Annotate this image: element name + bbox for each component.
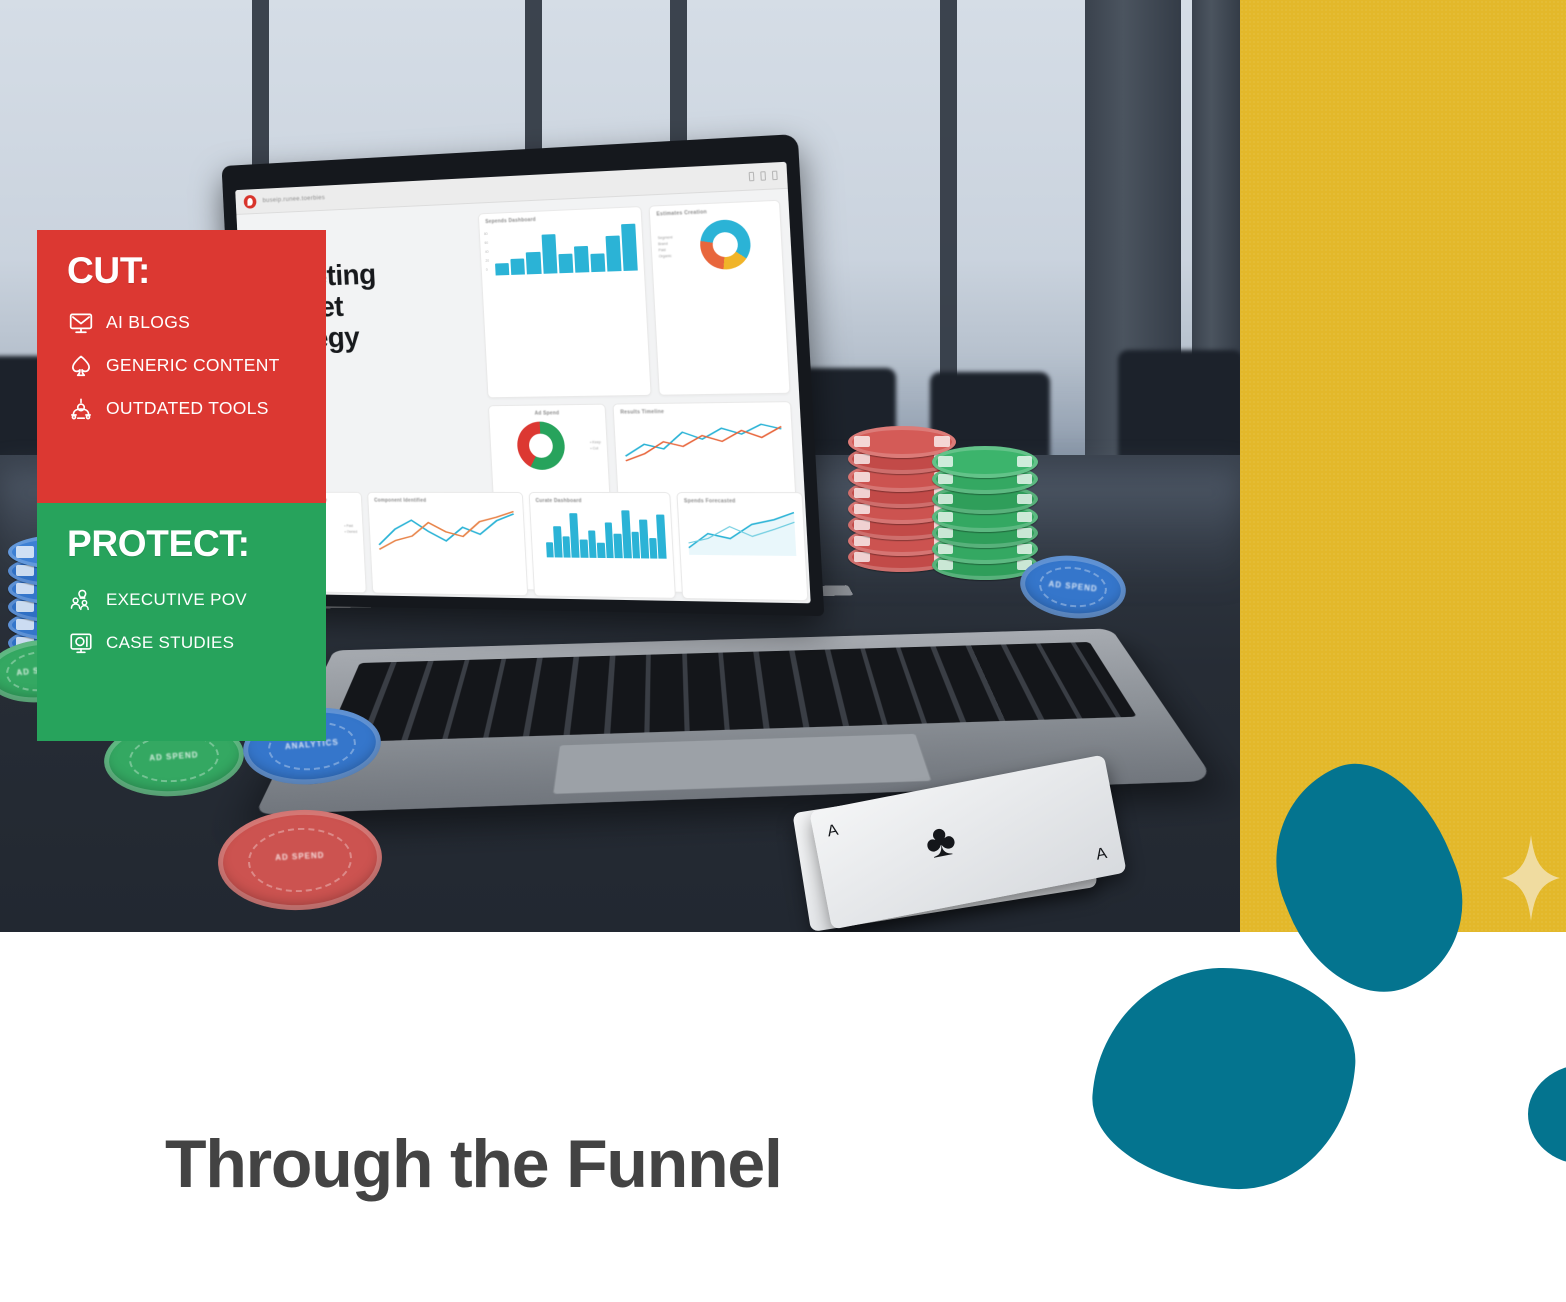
callout-protect-heading: PROTECT: xyxy=(67,525,306,562)
person-lightbulb-icon xyxy=(67,586,94,613)
dashboard-card[interactable]: Sepends Dashboard 806040200 xyxy=(478,206,652,398)
dashboard-card[interactable]: Estimates Creation SegmentBrandPaidOrgan… xyxy=(649,200,791,396)
line-chart xyxy=(621,416,787,465)
dashboard-card[interactable]: Spends Forecasted xyxy=(676,492,808,601)
club-corner-icon: A xyxy=(1095,846,1109,864)
callout-cut-items: AI BLOGS GENERIC CONTENT xyxy=(67,309,306,422)
card-title: Ad Spend xyxy=(495,409,599,416)
poster-canvas: buseip.runee.toerbies 2026 Marketing Bud… xyxy=(0,0,1566,1302)
cut-item-label: AI BLOGS xyxy=(106,312,190,333)
protect-item-case-studies[interactable]: CASE STUDIES xyxy=(67,629,306,656)
donut-chart xyxy=(699,219,752,271)
window-controls[interactable] xyxy=(749,171,778,182)
chart-legend: SegmentBrandPaidOrganic xyxy=(658,235,674,258)
chart-legend: • Paid• Owned xyxy=(344,524,357,534)
spade-icon xyxy=(67,352,94,379)
monitor-envelope-icon xyxy=(67,309,94,336)
dashboard-card[interactable]: Curate Dashboard xyxy=(528,492,676,599)
outdated-tools-icon xyxy=(67,395,94,422)
donut-chart xyxy=(516,421,566,470)
bar-chart xyxy=(486,222,638,276)
sparkle-star-icon xyxy=(1500,833,1562,923)
card-title: Spends Forecasted xyxy=(684,498,796,504)
line-chart xyxy=(374,507,518,553)
card-title: Results Timeline xyxy=(620,407,784,415)
cut-item-outdated-tools[interactable]: OUTDATED TOOLS xyxy=(67,395,306,422)
browser-url[interactable]: buseip.runee.toerbies xyxy=(262,194,325,204)
presentation-screen-icon xyxy=(67,629,94,656)
cut-item-generic-content[interactable]: GENERIC CONTENT xyxy=(67,352,306,379)
card-title: Component Identified xyxy=(374,498,516,504)
protect-item-label: EXECUTIVE POV xyxy=(106,590,247,610)
callout-cut[interactable]: CUT: AI BLOGS xyxy=(37,230,326,503)
dashboard-bottom-row: Ads Performance • Paid• Owned Component … xyxy=(252,492,808,601)
browser-logo-icon xyxy=(243,194,256,208)
protect-item-label: CASE STUDIES xyxy=(106,633,234,653)
cut-item-ai-blogs[interactable]: AI BLOGS xyxy=(67,309,306,336)
area-chart xyxy=(684,507,798,556)
chart-legend: • Keep• Cut xyxy=(590,440,601,450)
page-title: Through the Funnel xyxy=(165,1130,782,1198)
callout-protect-items: EXECUTIVE POV CASE STUDIES xyxy=(67,586,306,656)
club-suit-icon: ♣ xyxy=(921,815,959,866)
cut-item-label: OUTDATED TOOLS xyxy=(106,398,269,419)
chip-stack-green-right xyxy=(932,444,1038,584)
laptop-keyboard[interactable] xyxy=(326,642,1137,742)
callout-cut-heading: CUT: xyxy=(67,252,306,289)
cut-item-label: GENERIC CONTENT xyxy=(106,355,280,376)
club-corner-icon: A xyxy=(826,823,840,841)
card-title: Curate Dashboard xyxy=(535,498,663,504)
protect-item-executive-pov[interactable]: EXECUTIVE POV xyxy=(67,586,306,613)
laptop-trackpad[interactable] xyxy=(553,733,932,794)
callout-protect[interactable]: PROTECT: EXECUTIVE POV xyxy=(37,503,326,741)
bar-chart xyxy=(536,507,667,559)
dashboard-card[interactable]: Component Identified xyxy=(367,492,528,596)
